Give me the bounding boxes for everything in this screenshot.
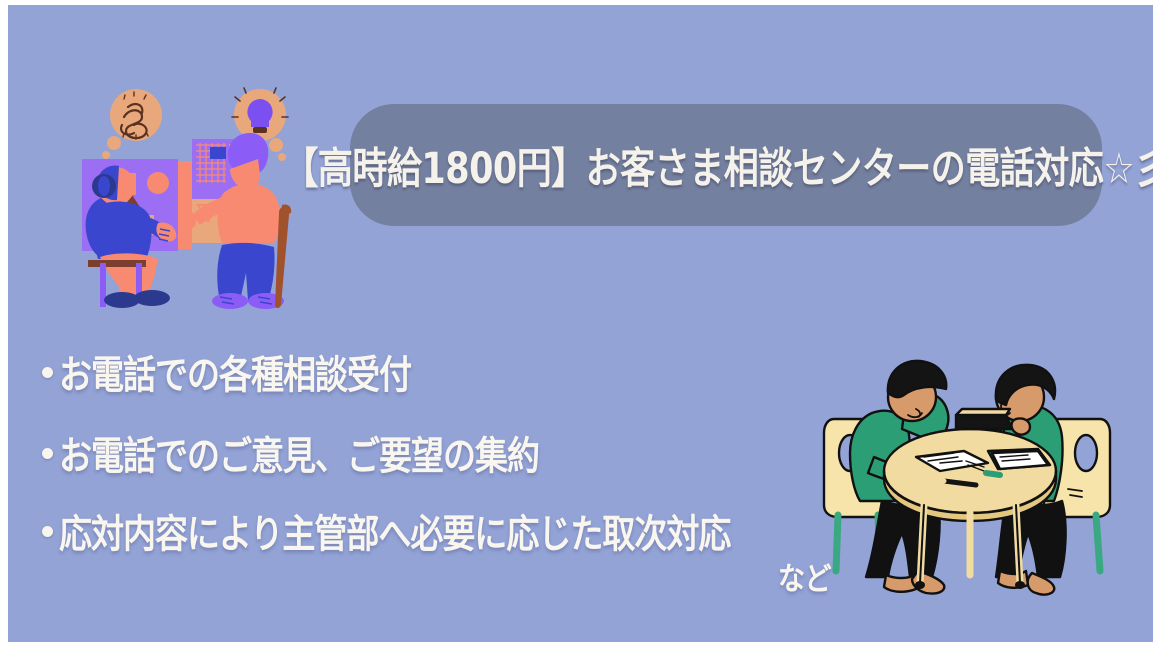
title-banner: 【高時給1800円】お客さま相談センターの電話対応☆彡 [350, 104, 1102, 226]
bullet-dot-icon [42, 526, 53, 537]
list-item-label: 応対内容により主管部へ必要に応じた取次対応 [59, 503, 730, 560]
bullet-dot-icon [42, 448, 53, 459]
list-item: 応対内容により主管部へ必要に応じた取次対応 [42, 507, 730, 555]
two-people-brainstorming-illustration [70, 87, 302, 312]
list-item-label: お電話での各種相談受付 [59, 344, 411, 401]
bullet-dot-icon [42, 367, 53, 378]
page-title: 【高時給1800円】お客さま相談センターの電話対応☆彡 [283, 134, 1153, 196]
two-people-studying-illustration [820, 357, 1120, 607]
list-item: お電話での各種相談受付 [42, 348, 411, 396]
list-item-label: お電話でのご意見、ご要望の集約 [59, 425, 539, 482]
list-item: お電話でのご意見、ご要望の集約 [42, 429, 539, 477]
slide-canvas: 【高時給1800円】お客さま相談センターの電話対応☆彡 お電話での各種相談受付 … [8, 5, 1153, 642]
